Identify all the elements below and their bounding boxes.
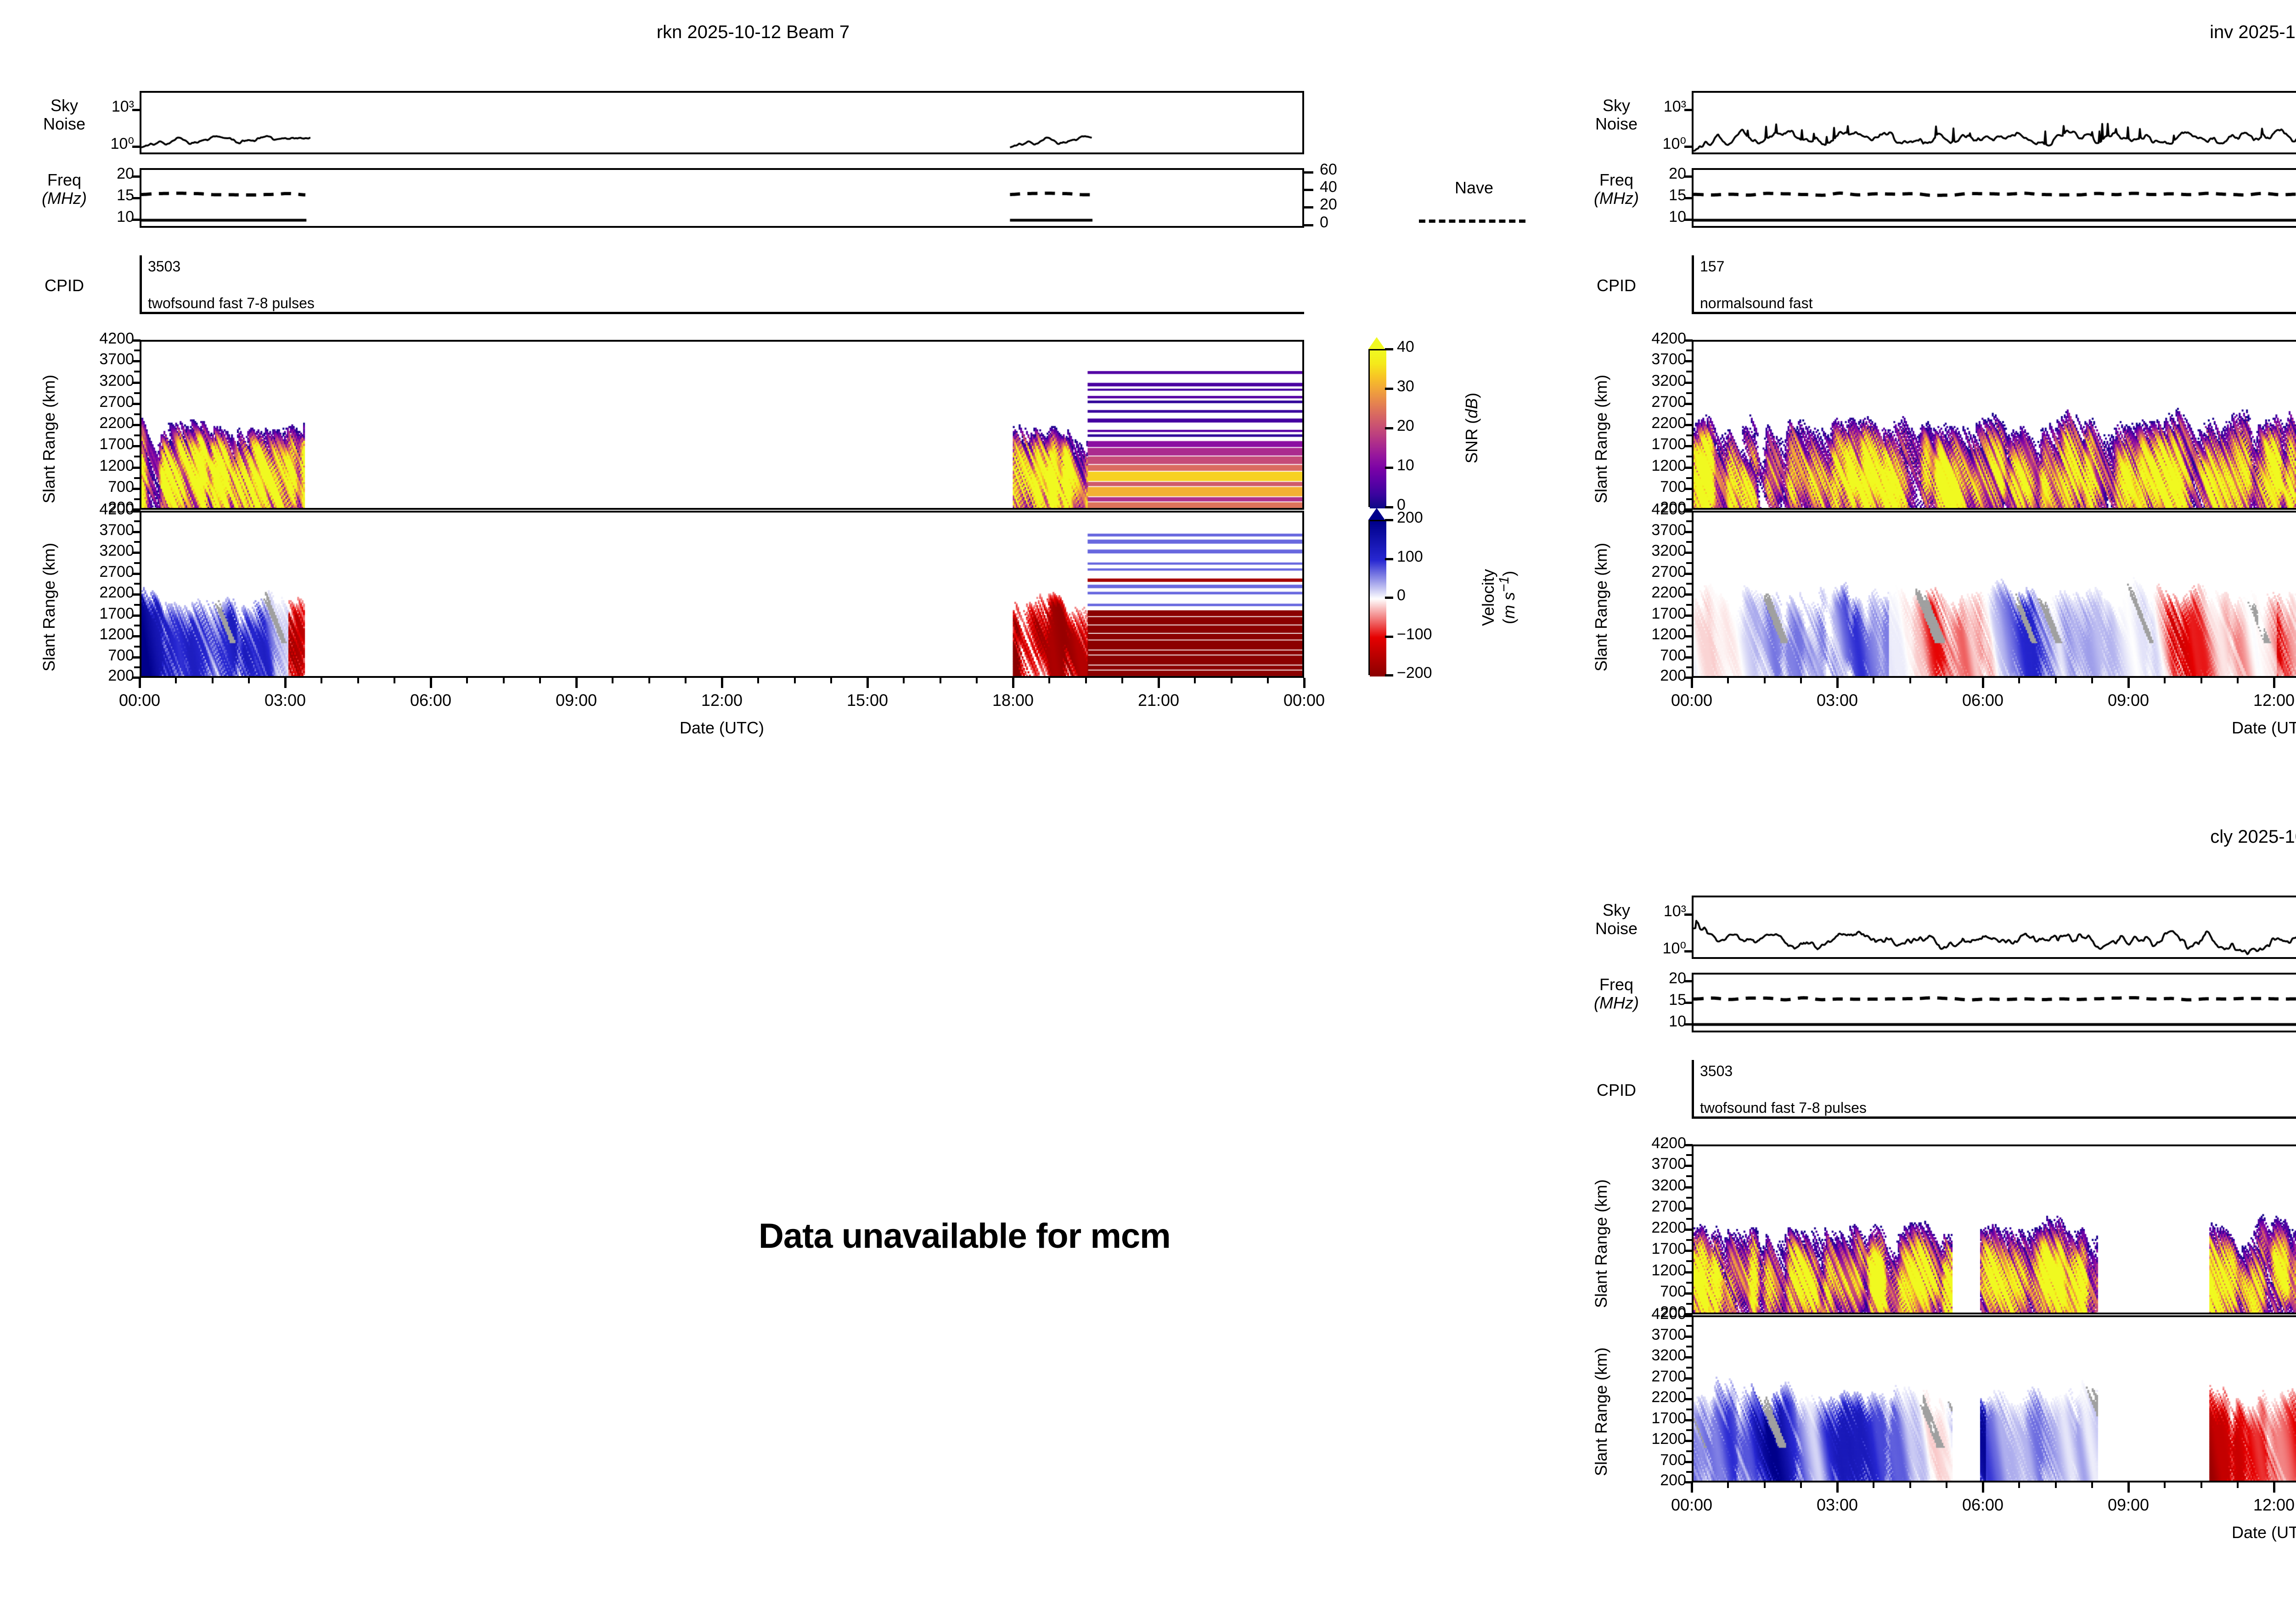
sky-noise-trace (1694, 897, 2296, 959)
slant-range-tick-label: 2200 (1609, 584, 1686, 602)
cpid-number: 3503 (148, 258, 180, 275)
sky-noise-tick-label: 10⁰ (1632, 939, 1686, 958)
slant-range-tick-label: 2200 (1609, 1388, 1686, 1406)
slant-range-tick-label: 1700 (1609, 1409, 1686, 1427)
slant-range-tick-label: 2200 (1609, 414, 1686, 432)
tick-mark (132, 146, 141, 148)
velocity-rti-axes (1692, 511, 2296, 678)
tick-minor-mark (134, 520, 140, 522)
velocity-rti-canvas (1694, 1317, 2296, 1482)
freq-nave-trace (141, 170, 1304, 228)
time-tick-mark (1303, 678, 1306, 688)
time-minor-tick (1121, 678, 1123, 683)
velocity-rti-canvas (1694, 513, 2296, 678)
time-minor-tick (2055, 1482, 2057, 1488)
time-minor-tick (757, 678, 759, 683)
tick-mark (1684, 403, 1693, 405)
freq-tick-label: 20 (1632, 165, 1686, 183)
time-minor-tick (1048, 678, 1050, 683)
time-minor-tick (2237, 678, 2239, 683)
colorbar-extend-arrow-icon (1368, 337, 1385, 349)
tick-minor-mark (134, 434, 140, 436)
tick-mark (1684, 510, 1693, 513)
time-minor-tick (830, 678, 832, 683)
tick-mark (132, 531, 141, 533)
tick-minor-mark (1686, 1367, 1692, 1369)
tick-minor-mark (1686, 371, 1692, 372)
velocity-colorbar-tick-label: 0 (1397, 586, 1406, 604)
slant-range-tick-label: 700 (1609, 478, 1686, 496)
slant-range-tick-label: 2200 (57, 584, 134, 602)
slant-range-tick-label: 2700 (1609, 1368, 1686, 1386)
time-tick-label: 09:00 (2078, 1495, 2179, 1515)
tick-mark (132, 175, 141, 178)
slant-range-tick-label: 3700 (1609, 1155, 1686, 1173)
time-tick-mark (430, 678, 432, 688)
colorbar-gradient (1370, 350, 1386, 508)
tick-mark (1684, 552, 1693, 554)
time-tick-label: 00:00 (1641, 1495, 1742, 1515)
time-minor-tick (2200, 1482, 2202, 1488)
slant-range-tick-label: 1700 (57, 605, 134, 623)
tick-minor-mark (134, 456, 140, 457)
cpid-name: twofsound fast 7-8 pulses (1700, 1099, 1867, 1116)
tick-mark (1684, 1250, 1693, 1252)
tick-minor-mark (1686, 413, 1692, 415)
time-tick-label: 12:00 (671, 691, 772, 710)
colorbar-tick-mark (1385, 506, 1393, 508)
slant-range-tick-label: 4200 (57, 501, 134, 519)
snr-colorbar (1368, 349, 1385, 507)
slant-range-axis-label: Slant Range (km) (39, 543, 59, 671)
tick-mark (132, 197, 141, 199)
tick-mark (1684, 219, 1693, 221)
sky-noise-tick-label: 10⁰ (1632, 135, 1686, 153)
time-minor-tick (1727, 678, 1729, 683)
time-tick-label: 12:00 (2223, 691, 2296, 710)
time-minor-tick (466, 678, 468, 683)
tick-mark (1684, 1336, 1693, 1338)
tick-mark (1684, 175, 1693, 178)
time-minor-tick (2164, 1482, 2166, 1488)
time-minor-tick (2091, 678, 2093, 683)
slant-range-axis-label: Slant Range (km) (1592, 543, 1611, 671)
snr-colorbar-tick-label: 30 (1397, 378, 1414, 395)
velocity-colorbar-tick-label: −200 (1397, 664, 1432, 682)
tick-mark (132, 360, 141, 362)
tick-mark (1304, 171, 1313, 174)
time-tick-label: 09:00 (2078, 691, 2179, 710)
slant-range-tick-label: 1700 (1609, 435, 1686, 453)
time-minor-tick (1946, 678, 1947, 683)
time-tick-label: 15:00 (817, 691, 918, 710)
time-tick-label: 06:00 (1932, 1495, 2033, 1515)
time-minor-tick (940, 678, 941, 683)
tick-minor-mark (134, 349, 140, 351)
slant-range-tick-label: 200 (57, 667, 134, 685)
sky-noise-axes (1692, 91, 2296, 154)
time-tick-mark (1836, 1482, 1839, 1493)
time-tick-mark (2127, 678, 2130, 688)
time-tick-label: 03:00 (1787, 691, 1888, 710)
tick-mark (1684, 1144, 1693, 1146)
time-minor-tick (503, 678, 505, 683)
freq-tick-label: 10 (80, 208, 134, 226)
nave-tick-label: 20 (1320, 196, 1375, 214)
time-tick-mark (1691, 1482, 1693, 1493)
time-minor-tick (794, 678, 796, 683)
velocity-colorbar-title: Velocity(m s−1) (1480, 520, 1518, 675)
slant-range-tick-label: 3700 (1609, 350, 1686, 368)
time-tick-label: 00:00 (1641, 691, 1742, 710)
slant-range-tick-label: 1200 (1609, 626, 1686, 643)
slant-range-tick-label: 2200 (1609, 1219, 1686, 1237)
time-minor-tick (1800, 678, 1802, 683)
time-tick-label: 00:00 (1254, 691, 1355, 710)
time-minor-tick (1764, 678, 1766, 683)
tick-mark (1684, 1229, 1693, 1231)
slant-range-tick-label: 1200 (57, 457, 134, 475)
time-minor-tick (212, 678, 214, 683)
cpid-row-label: CPID (0, 276, 129, 295)
colorbar-extend-arrow-icon (1368, 508, 1385, 520)
tick-minor-mark (1686, 1325, 1692, 1327)
nave-tick-label: 60 (1320, 161, 1375, 179)
slant-range-tick-label: 1700 (1609, 605, 1686, 623)
time-minor-tick (1946, 1482, 1947, 1488)
time-tick-mark (1982, 1482, 1984, 1493)
time-minor-tick (1267, 678, 1269, 683)
tick-mark (1684, 488, 1693, 490)
sky-noise-tick-label: 10³ (1632, 902, 1686, 920)
tick-minor-mark (134, 392, 140, 394)
tick-mark (132, 109, 141, 111)
snr-rti-canvas (141, 342, 1304, 510)
slant-range-tick-label: 700 (57, 647, 134, 665)
tick-mark (132, 382, 141, 384)
cpid-row-label: CPID (1552, 276, 1681, 295)
slant-range-tick-label: 4200 (1609, 330, 1686, 348)
tick-mark (1684, 467, 1693, 469)
summary-panel-cly: cly 2025-10-12 Beam 7SkyNoise10³10⁰Freq(… (1552, 805, 2296, 1585)
slant-range-axis-label: Slant Range (km) (1592, 375, 1611, 503)
time-tick-mark (721, 678, 723, 688)
time-tick-mark (1691, 678, 1693, 688)
tick-minor-mark (1686, 520, 1692, 522)
freq-tick-label: 15 (80, 186, 134, 204)
tick-minor-mark (134, 646, 140, 648)
tick-mark (132, 510, 141, 513)
tick-mark (1684, 950, 1693, 953)
slant-range-tick-label: 3200 (1609, 1347, 1686, 1364)
tick-mark (132, 573, 141, 575)
time-minor-tick (1194, 678, 1196, 683)
slant-range-tick-label: 1700 (57, 435, 134, 453)
slant-range-tick-label: 2700 (57, 393, 134, 411)
tick-mark (132, 445, 141, 447)
slant-range-axis-label: Slant Range (km) (39, 375, 59, 503)
time-minor-tick (248, 678, 250, 683)
time-tick-label: 06:00 (380, 691, 481, 710)
time-minor-tick (2237, 1482, 2239, 1488)
time-tick-mark (139, 678, 141, 688)
time-minor-tick (2091, 1482, 2093, 1488)
nave-legend-label: Nave (1405, 178, 1543, 197)
slant-range-tick-label: 1200 (57, 626, 134, 643)
tick-mark (1684, 656, 1693, 659)
tick-minor-mark (1686, 1175, 1692, 1177)
time-minor-tick (976, 678, 978, 683)
freq-nave-trace (1694, 975, 2296, 1032)
tick-mark (1304, 224, 1313, 226)
tick-minor-mark (1686, 562, 1692, 564)
tick-minor-mark (1686, 1303, 1692, 1305)
time-tick-label: 12:00 (2223, 1495, 2296, 1515)
slant-range-tick-label: 3700 (1609, 1326, 1686, 1344)
tick-minor-mark (1686, 434, 1692, 436)
slant-range-tick-label: 3200 (1609, 1177, 1686, 1195)
sky-noise-tick-label: 10³ (80, 98, 134, 116)
tick-mark (1684, 360, 1693, 362)
freq-tick-label: 10 (1632, 208, 1686, 226)
tick-minor-mark (1686, 477, 1692, 479)
colorbar-tick-mark (1385, 597, 1393, 599)
time-minor-tick (1764, 1482, 1766, 1488)
slant-range-tick-label: 1700 (1609, 1240, 1686, 1258)
slant-range-tick-label: 2700 (1609, 1198, 1686, 1216)
tick-minor-mark (134, 583, 140, 585)
velocity-colorbar (1368, 520, 1385, 675)
slant-range-tick-label: 2700 (1609, 393, 1686, 411)
slant-range-tick-label: 700 (1609, 1283, 1686, 1301)
tick-mark (1684, 593, 1693, 596)
cpid-number: 3503 (1700, 1063, 1733, 1080)
snr-rti-canvas (1694, 1146, 2296, 1314)
summary-panel-rkn: rkn 2025-10-12 Beam 7SkyNoise10³10⁰Freq(… (0, 0, 1479, 781)
freq-nave-axes (1692, 973, 2296, 1032)
tick-mark (1684, 531, 1693, 533)
tick-minor-mark (134, 371, 140, 372)
velocity-colorbar-tick-label: 200 (1397, 509, 1423, 527)
time-minor-tick (1231, 678, 1232, 683)
tick-mark (1684, 1165, 1693, 1167)
tick-mark (1684, 382, 1693, 384)
snr-rti-axes (1692, 340, 2296, 510)
slant-range-tick-label: 1200 (1609, 1430, 1686, 1448)
tick-minor-mark (1686, 1197, 1692, 1199)
tick-mark (1684, 1023, 1693, 1026)
tick-mark (132, 552, 141, 554)
x-axis-label: Date (UTC) (2136, 718, 2296, 738)
time-minor-tick (2055, 678, 2057, 683)
slant-range-tick-label: 2700 (1609, 563, 1686, 581)
time-minor-tick (1909, 1482, 1911, 1488)
time-tick-mark (2273, 678, 2275, 688)
time-minor-tick (2164, 678, 2166, 683)
slant-range-tick-label: 700 (57, 478, 134, 496)
velocity-rti-axes (140, 511, 1304, 678)
time-minor-tick (903, 678, 905, 683)
velocity-rti-canvas (141, 513, 1304, 678)
cpid-name: normalsound fast (1700, 295, 1812, 312)
time-tick-mark (2273, 1482, 2275, 1493)
tick-mark (132, 219, 141, 221)
snr-colorbar-title: SNR (dB) (1462, 349, 1481, 507)
tick-minor-mark (1686, 392, 1692, 394)
tick-mark (1684, 635, 1693, 637)
colorbar-tick-mark (1385, 467, 1393, 469)
freq-tick-label: 20 (1632, 969, 1686, 987)
time-tick-mark (284, 678, 287, 688)
tick-mark (1684, 1292, 1693, 1295)
tick-mark (1684, 424, 1693, 426)
tick-mark (132, 339, 141, 342)
tick-mark (1684, 1356, 1693, 1358)
colorbar-gradient (1370, 521, 1386, 676)
velocity-colorbar-tick-label: −100 (1397, 626, 1432, 643)
time-tick-label: 18:00 (962, 691, 1064, 710)
tick-mark (1684, 197, 1693, 199)
velocity-rti-axes (1692, 1315, 2296, 1482)
slant-range-tick-label: 200 (1609, 1471, 1686, 1489)
tick-mark (1684, 1271, 1693, 1274)
time-tick-label: 03:00 (1787, 1495, 1888, 1515)
tick-minor-mark (134, 562, 140, 564)
freq-nave-axes (1692, 168, 2296, 228)
freq-nave-trace (1694, 170, 2296, 228)
tick-mark (1684, 1377, 1693, 1380)
time-minor-tick (357, 678, 359, 683)
freq-tick-label: 15 (1632, 186, 1686, 204)
slant-range-tick-label: 3700 (1609, 521, 1686, 539)
snr-colorbar-tick-label: 40 (1397, 338, 1414, 356)
snr-rti-axes (140, 340, 1304, 510)
time-minor-tick (175, 678, 177, 683)
slant-range-axis-label: Slant Range (km) (1592, 1347, 1611, 1476)
tick-minor-mark (1686, 1154, 1692, 1156)
time-minor-tick (1727, 1482, 1729, 1488)
time-minor-tick (321, 678, 322, 683)
cpid-row-label: CPID (1552, 1081, 1681, 1099)
time-minor-tick (685, 678, 687, 683)
tick-mark (1684, 913, 1693, 916)
velocity-colorbar-tick-label: 100 (1397, 548, 1423, 566)
slant-range-tick-label: 3200 (57, 372, 134, 390)
slant-range-tick-label: 4200 (1609, 1134, 1686, 1152)
time-minor-tick (648, 678, 650, 683)
tick-minor-mark (1686, 1218, 1692, 1220)
tick-minor-mark (134, 413, 140, 415)
time-minor-tick (1085, 678, 1087, 683)
panel-title-rkn: rkn 2025-10-12 Beam 7 (478, 22, 1029, 43)
slant-range-tick-label: 1200 (1609, 457, 1686, 475)
tick-mark (1684, 1315, 1693, 1317)
time-tick-label: 09:00 (526, 691, 627, 710)
time-tick-label: 03:00 (235, 691, 336, 710)
slant-range-tick-label: 200 (1609, 667, 1686, 685)
tick-mark (1684, 1398, 1693, 1400)
colorbar-tick-mark (1385, 427, 1393, 429)
colorbar-tick-mark (1385, 388, 1393, 390)
sky-noise-trace (1694, 93, 2296, 154)
tick-mark (1684, 1207, 1693, 1210)
freq-nave-axes (140, 168, 1304, 228)
snr-rti-axes (1692, 1144, 2296, 1314)
summary-panel-inv: inv 2025-10-07 Beam 7SkyNoise10³10⁰Freq(… (1552, 0, 2296, 781)
tick-minor-mark (1686, 646, 1692, 648)
tick-mark (1684, 614, 1693, 617)
sky-noise-axes (1692, 896, 2296, 959)
tick-minor-mark (1686, 1409, 1692, 1410)
time-minor-tick (1873, 1482, 1874, 1488)
snr-rti-canvas (1694, 342, 2296, 510)
time-tick-mark (1158, 678, 1160, 688)
slant-range-tick-label: 1200 (1609, 1262, 1686, 1279)
slant-range-tick-label: 3700 (57, 350, 134, 368)
data-unavailable-message: Data unavailable for mcm (759, 1216, 1171, 1256)
time-tick-mark (1012, 678, 1014, 688)
sky-noise-tick-label: 10⁰ (80, 135, 134, 153)
time-tick-mark (1982, 678, 1984, 688)
tick-mark (132, 593, 141, 596)
tick-minor-mark (1686, 1387, 1692, 1389)
tick-mark (1684, 573, 1693, 575)
tick-mark (1684, 146, 1693, 148)
tick-minor-mark (134, 541, 140, 543)
slant-range-tick-label: 3700 (57, 521, 134, 539)
time-tick-mark (1836, 678, 1839, 688)
tick-mark (1684, 339, 1693, 342)
nave-tick-label: 0 (1320, 214, 1375, 231)
tick-mark (1304, 189, 1313, 191)
panel-title-inv: inv 2025-10-07 Beam 7 (2030, 22, 2296, 43)
slant-range-tick-label: 2200 (57, 414, 134, 432)
colorbar-tick-mark (1385, 348, 1393, 350)
slant-range-tick-label: 3200 (1609, 372, 1686, 390)
tick-minor-mark (1686, 498, 1692, 500)
time-tick-mark (867, 678, 869, 688)
tick-minor-mark (1686, 1282, 1692, 1284)
tick-minor-mark (1686, 1260, 1692, 1262)
time-tick-label: 00:00 (89, 691, 190, 710)
time-minor-tick (2018, 1482, 2020, 1488)
tick-minor-mark (1686, 1239, 1692, 1241)
tick-minor-mark (134, 604, 140, 606)
time-minor-tick (612, 678, 613, 683)
tick-minor-mark (134, 477, 140, 479)
tick-minor-mark (1686, 625, 1692, 626)
time-tick-mark (2127, 1482, 2130, 1493)
tick-mark (1684, 109, 1693, 111)
tick-minor-mark (1686, 349, 1692, 351)
cpid-number: 157 (1700, 258, 1724, 275)
slant-range-tick-label: 700 (1609, 647, 1686, 665)
colorbar-tick-mark (1385, 558, 1393, 560)
colorbar-tick-mark (1385, 519, 1393, 521)
tick-minor-mark (1686, 604, 1692, 606)
sky-noise-tick-label: 10³ (1632, 98, 1686, 116)
time-minor-tick (539, 678, 541, 683)
tick-mark (132, 488, 141, 490)
time-minor-tick (2200, 678, 2202, 683)
nave-tick-label: 40 (1320, 178, 1375, 196)
tick-mark (1684, 445, 1693, 447)
tick-mark (1684, 1419, 1693, 1421)
time-tick-label: 06:00 (1932, 691, 2033, 710)
tick-minor-mark (1686, 1471, 1692, 1473)
sky-noise-axes (140, 91, 1304, 154)
x-axis-label: Date (UTC) (584, 718, 860, 738)
